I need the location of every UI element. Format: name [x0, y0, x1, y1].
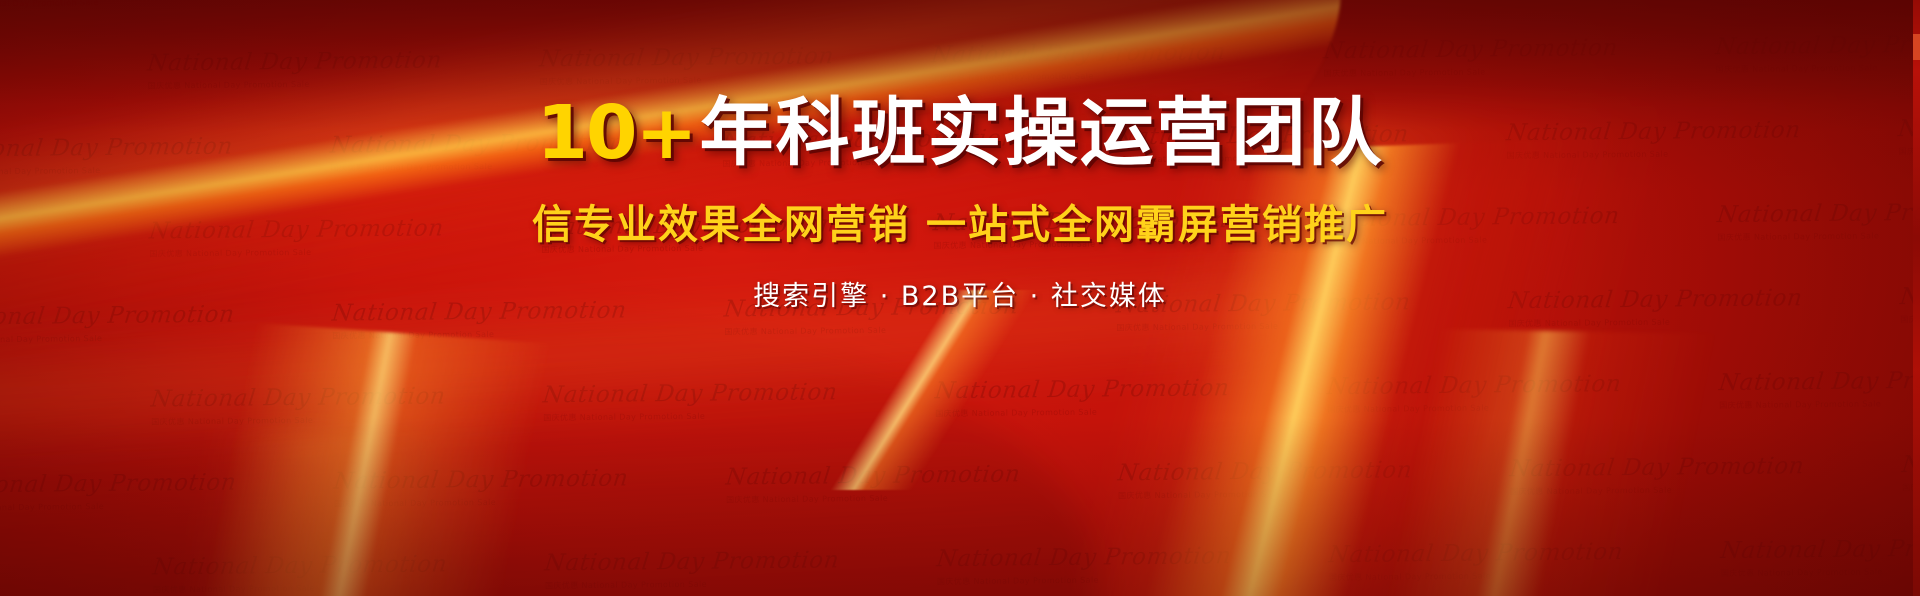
- headline: 10+年科班实操运营团队: [0, 96, 1920, 170]
- headline-text: 年科班实操运营团队: [699, 90, 1383, 176]
- right-edge-tick: [1913, 34, 1920, 60]
- subheadline: 信专业效果全网营销 一站式全网霸屏营销推广: [0, 192, 1920, 250]
- headline-number: 10+: [537, 90, 696, 176]
- banner-text-block: 10+年科班实操运营团队 信专业效果全网营销 一站式全网霸屏营销推广 搜索引擎 …: [0, 96, 1920, 313]
- promotional-banner: National Day Promotion国庆优惠 National Day …: [0, 0, 1920, 596]
- right-edge-artifact: [1913, 0, 1920, 596]
- tagline: 搜索引擎 · B2B平台 · 社交媒体: [0, 274, 1920, 313]
